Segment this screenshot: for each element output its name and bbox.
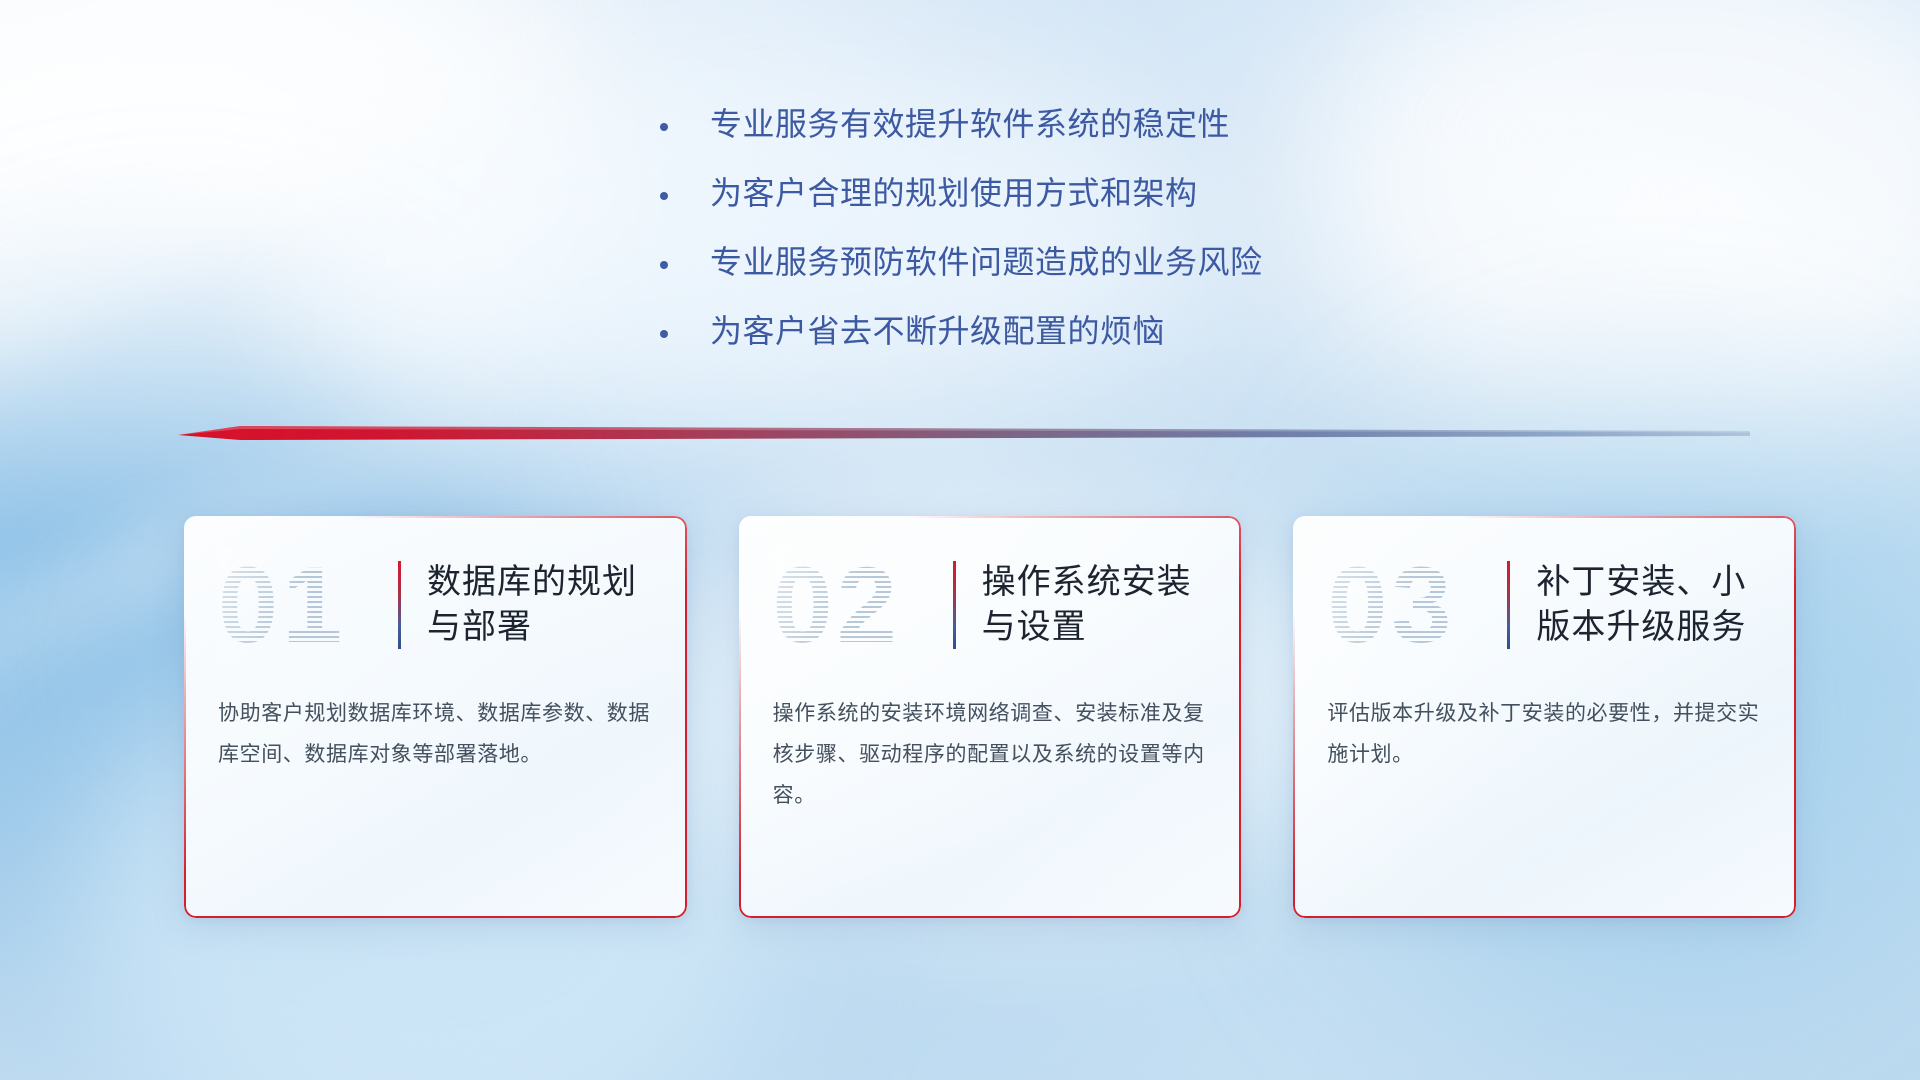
card-number: 02: [773, 547, 949, 663]
bullet-list: 专业服务有效提升软件系统的稳定性 为客户合理的规划使用方式和架构 专业服务预防软…: [660, 104, 1420, 380]
card-header: 02 操作系统安装与设置: [739, 516, 1242, 694]
gradient-swoosh-divider: [178, 420, 1750, 454]
bullet-text: 专业服务有效提升软件系统的稳定性: [710, 104, 1230, 145]
card-header: 01 数据库的规划与部署: [184, 516, 687, 694]
bullet-point-icon: [660, 261, 668, 269]
background-glow-top-left: [0, 0, 580, 440]
slide-canvas: 专业服务有效提升软件系统的稳定性 为客户合理的规划使用方式和架构 专业服务预防软…: [0, 0, 1920, 1080]
bullet-point-icon: [660, 330, 668, 338]
card-title: 数据库的规划与部署: [427, 560, 661, 650]
background-light-streak-1: [0, 0, 673, 435]
card-title-divider: [1507, 561, 1510, 649]
bullet-point-icon: [660, 123, 668, 131]
card-03[interactable]: 03 补丁安装、小版本升级服务 评估版本升级及补丁安装的必要性，并提交实施计划。: [1293, 516, 1796, 918]
card-number: 03: [1327, 547, 1503, 663]
card-title: 操作系统安装与设置: [982, 560, 1216, 650]
list-item: 专业服务预防软件问题造成的业务风险: [660, 242, 1420, 283]
list-item: 为客户省去不断升级配置的烦恼: [660, 311, 1420, 352]
list-item: 专业服务有效提升软件系统的稳定性: [660, 104, 1420, 145]
bullet-point-icon: [660, 192, 668, 200]
bullet-text: 为客户省去不断升级配置的烦恼: [710, 311, 1165, 352]
card-title-divider: [398, 561, 401, 649]
card-row: 01 数据库的规划与部署 协助客户规划数据库环境、数据库参数、数据库空间、数据库…: [184, 516, 1796, 918]
card-body-text: 操作系统的安装环境网络调查、安装标准及复核步骤、驱动程序的配置以及系统的设置等内…: [739, 694, 1242, 817]
bullet-text: 为客户合理的规划使用方式和架构: [710, 173, 1198, 214]
card-01[interactable]: 01 数据库的规划与部署 协助客户规划数据库环境、数据库参数、数据库空间、数据库…: [184, 516, 687, 918]
card-title-divider: [953, 561, 956, 649]
list-item: 为客户合理的规划使用方式和架构: [660, 173, 1420, 214]
card-title: 补丁安装、小版本升级服务: [1536, 560, 1770, 650]
card-body-text: 协助客户规划数据库环境、数据库参数、数据库空间、数据库对象等部署落地。: [184, 694, 687, 776]
bullet-text: 专业服务预防软件问题造成的业务风险: [710, 242, 1263, 283]
card-number: 01: [218, 547, 394, 663]
card-header: 03 补丁安装、小版本升级服务: [1293, 516, 1796, 694]
card-body-text: 评估版本升级及补丁安装的必要性，并提交实施计划。: [1293, 694, 1796, 776]
card-02[interactable]: 02 操作系统安装与设置 操作系统的安装环境网络调查、安装标准及复核步骤、驱动程…: [739, 516, 1242, 918]
